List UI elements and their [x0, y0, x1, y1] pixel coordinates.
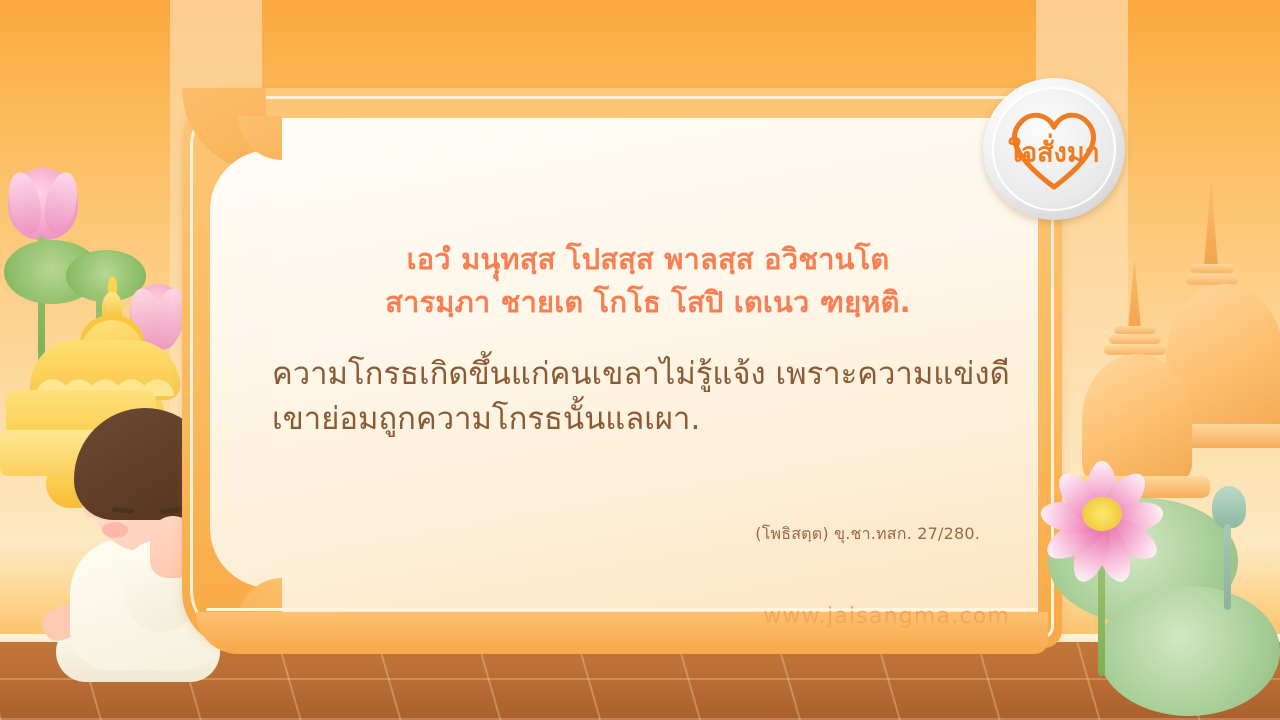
- lily-pad-right-2-icon: [1098, 586, 1280, 716]
- scripture-citation: (โพธิสตฺต) ขุ.ชา.ทสก. 27/280.: [258, 522, 980, 547]
- brand-logo-badge[interactable]: ใจสั่งมา: [983, 78, 1125, 220]
- thai-translation-line-2: เขาย่อมถูกความโกรธนั้นแลเผา.: [272, 397, 1032, 442]
- pali-verse: เอวํ มนฺุทสฺส โปสสฺส พาลสฺส อวิชานโต สาร…: [258, 238, 1038, 324]
- pali-verse-line-2: สารมฺภา ชายเต โกโธ โสปิ เตเนว ฑยฺหติ.: [258, 281, 1038, 324]
- pali-verse-line-1: เอวํ มนฺุทสฺส โปสสฺส พาลสฺส อวิชานโต: [258, 238, 1038, 281]
- poster-canvas: เอวํ มนฺุทสฺส โปสสฺส พาลสฺส อวิชานโต สาร…: [0, 0, 1280, 720]
- lotus-seed-pod-icon: [1212, 486, 1246, 528]
- brand-logo-text: ใจสั่งมา: [1008, 130, 1100, 173]
- thai-translation: ความโกรธเกิดขึ้นแก่คนเขลาไม่รู้แจ้ง เพรา…: [272, 352, 1032, 442]
- lotus-seed-pod-stem: [1224, 524, 1231, 610]
- lotus-flower-right-icon: [1042, 468, 1162, 578]
- thai-translation-line-1: ความโกรธเกิดขึ้นแก่คนเขลาไม่รู้แจ้ง เพรา…: [272, 352, 1032, 397]
- website-url[interactable]: www.jaisangma.com: [258, 604, 1010, 629]
